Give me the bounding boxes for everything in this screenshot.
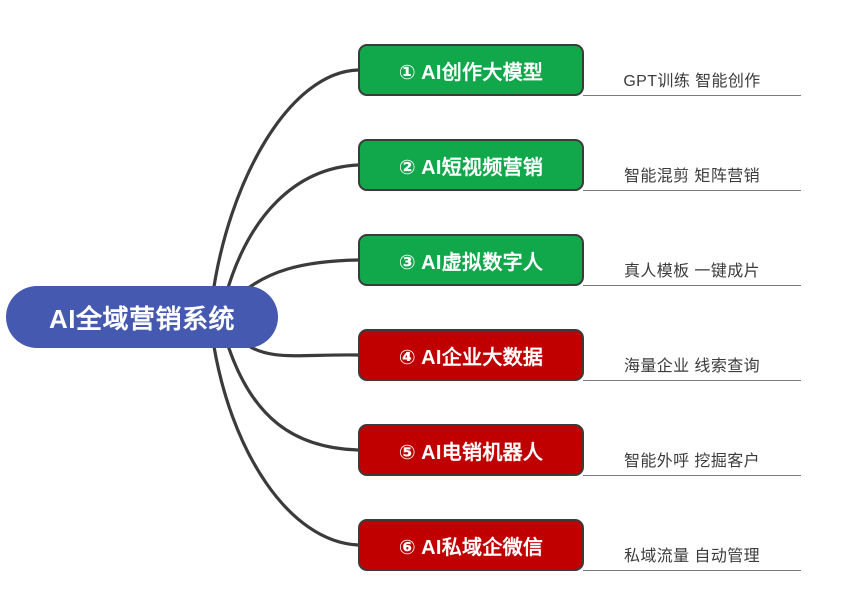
annotation-5: 智能外呼 挖掘客户 xyxy=(583,424,801,476)
annotation-rule-5 xyxy=(583,475,801,476)
connector-line-1 xyxy=(212,70,358,300)
connector-line-3 xyxy=(243,260,358,292)
branch-box-6[interactable]: ⑥ AI私域企微信 xyxy=(358,519,584,571)
root-node[interactable]: AI全域营销系统 xyxy=(6,286,278,348)
annotation-text-1: GPT训练 智能创作 xyxy=(583,67,801,91)
branch-box-1[interactable]: ① AI创作大模型 xyxy=(358,44,584,96)
annotation-3: 真人模板 一键成片 xyxy=(583,234,801,286)
annotation-6: 私域流量 自动管理 xyxy=(583,519,801,571)
branch-label-1: ① AI创作大模型 xyxy=(399,56,543,85)
connector-line-6 xyxy=(212,334,358,545)
branch-box-2[interactable]: ② AI短视频营销 xyxy=(358,139,584,191)
annotation-2: 智能混剪 矩阵营销 xyxy=(583,139,801,191)
annotation-rule-1 xyxy=(583,95,801,96)
annotation-rule-6 xyxy=(583,570,801,571)
mindmap-canvas: AI全域营销系统 ① AI创作大模型 GPT训练 智能创作 ② AI短视频营销 … xyxy=(0,0,859,604)
connector-line-2 xyxy=(225,165,358,298)
annotation-text-4: 海量企业 线索查询 xyxy=(583,352,801,376)
annotation-rule-3 xyxy=(583,285,801,286)
branch-box-5[interactable]: ⑤ AI电销机器人 xyxy=(358,424,584,476)
annotation-text-3: 真人模板 一键成片 xyxy=(583,257,801,281)
annotation-text-5: 智能外呼 挖掘客户 xyxy=(583,447,801,471)
branch-label-3: ③ AI虚拟数字人 xyxy=(399,246,543,275)
connector-line-5 xyxy=(225,336,358,450)
annotation-text-2: 智能混剪 矩阵营销 xyxy=(583,162,801,186)
branch-label-2: ② AI短视频营销 xyxy=(399,151,543,180)
annotation-rule-4 xyxy=(583,380,801,381)
root-node-label: AI全域营销系统 xyxy=(49,299,235,336)
annotation-text-6: 私域流量 自动管理 xyxy=(583,542,801,566)
annotation-4: 海量企业 线索查询 xyxy=(583,329,801,381)
branch-label-4: ④ AI企业大数据 xyxy=(399,341,543,370)
branch-label-5: ⑤ AI电销机器人 xyxy=(399,436,543,465)
branch-box-4[interactable]: ④ AI企业大数据 xyxy=(358,329,584,381)
annotation-rule-2 xyxy=(583,190,801,191)
branch-label-6: ⑥ AI私域企微信 xyxy=(399,531,543,560)
annotation-1: GPT训练 智能创作 xyxy=(583,44,801,96)
branch-box-3[interactable]: ③ AI虚拟数字人 xyxy=(358,234,584,286)
